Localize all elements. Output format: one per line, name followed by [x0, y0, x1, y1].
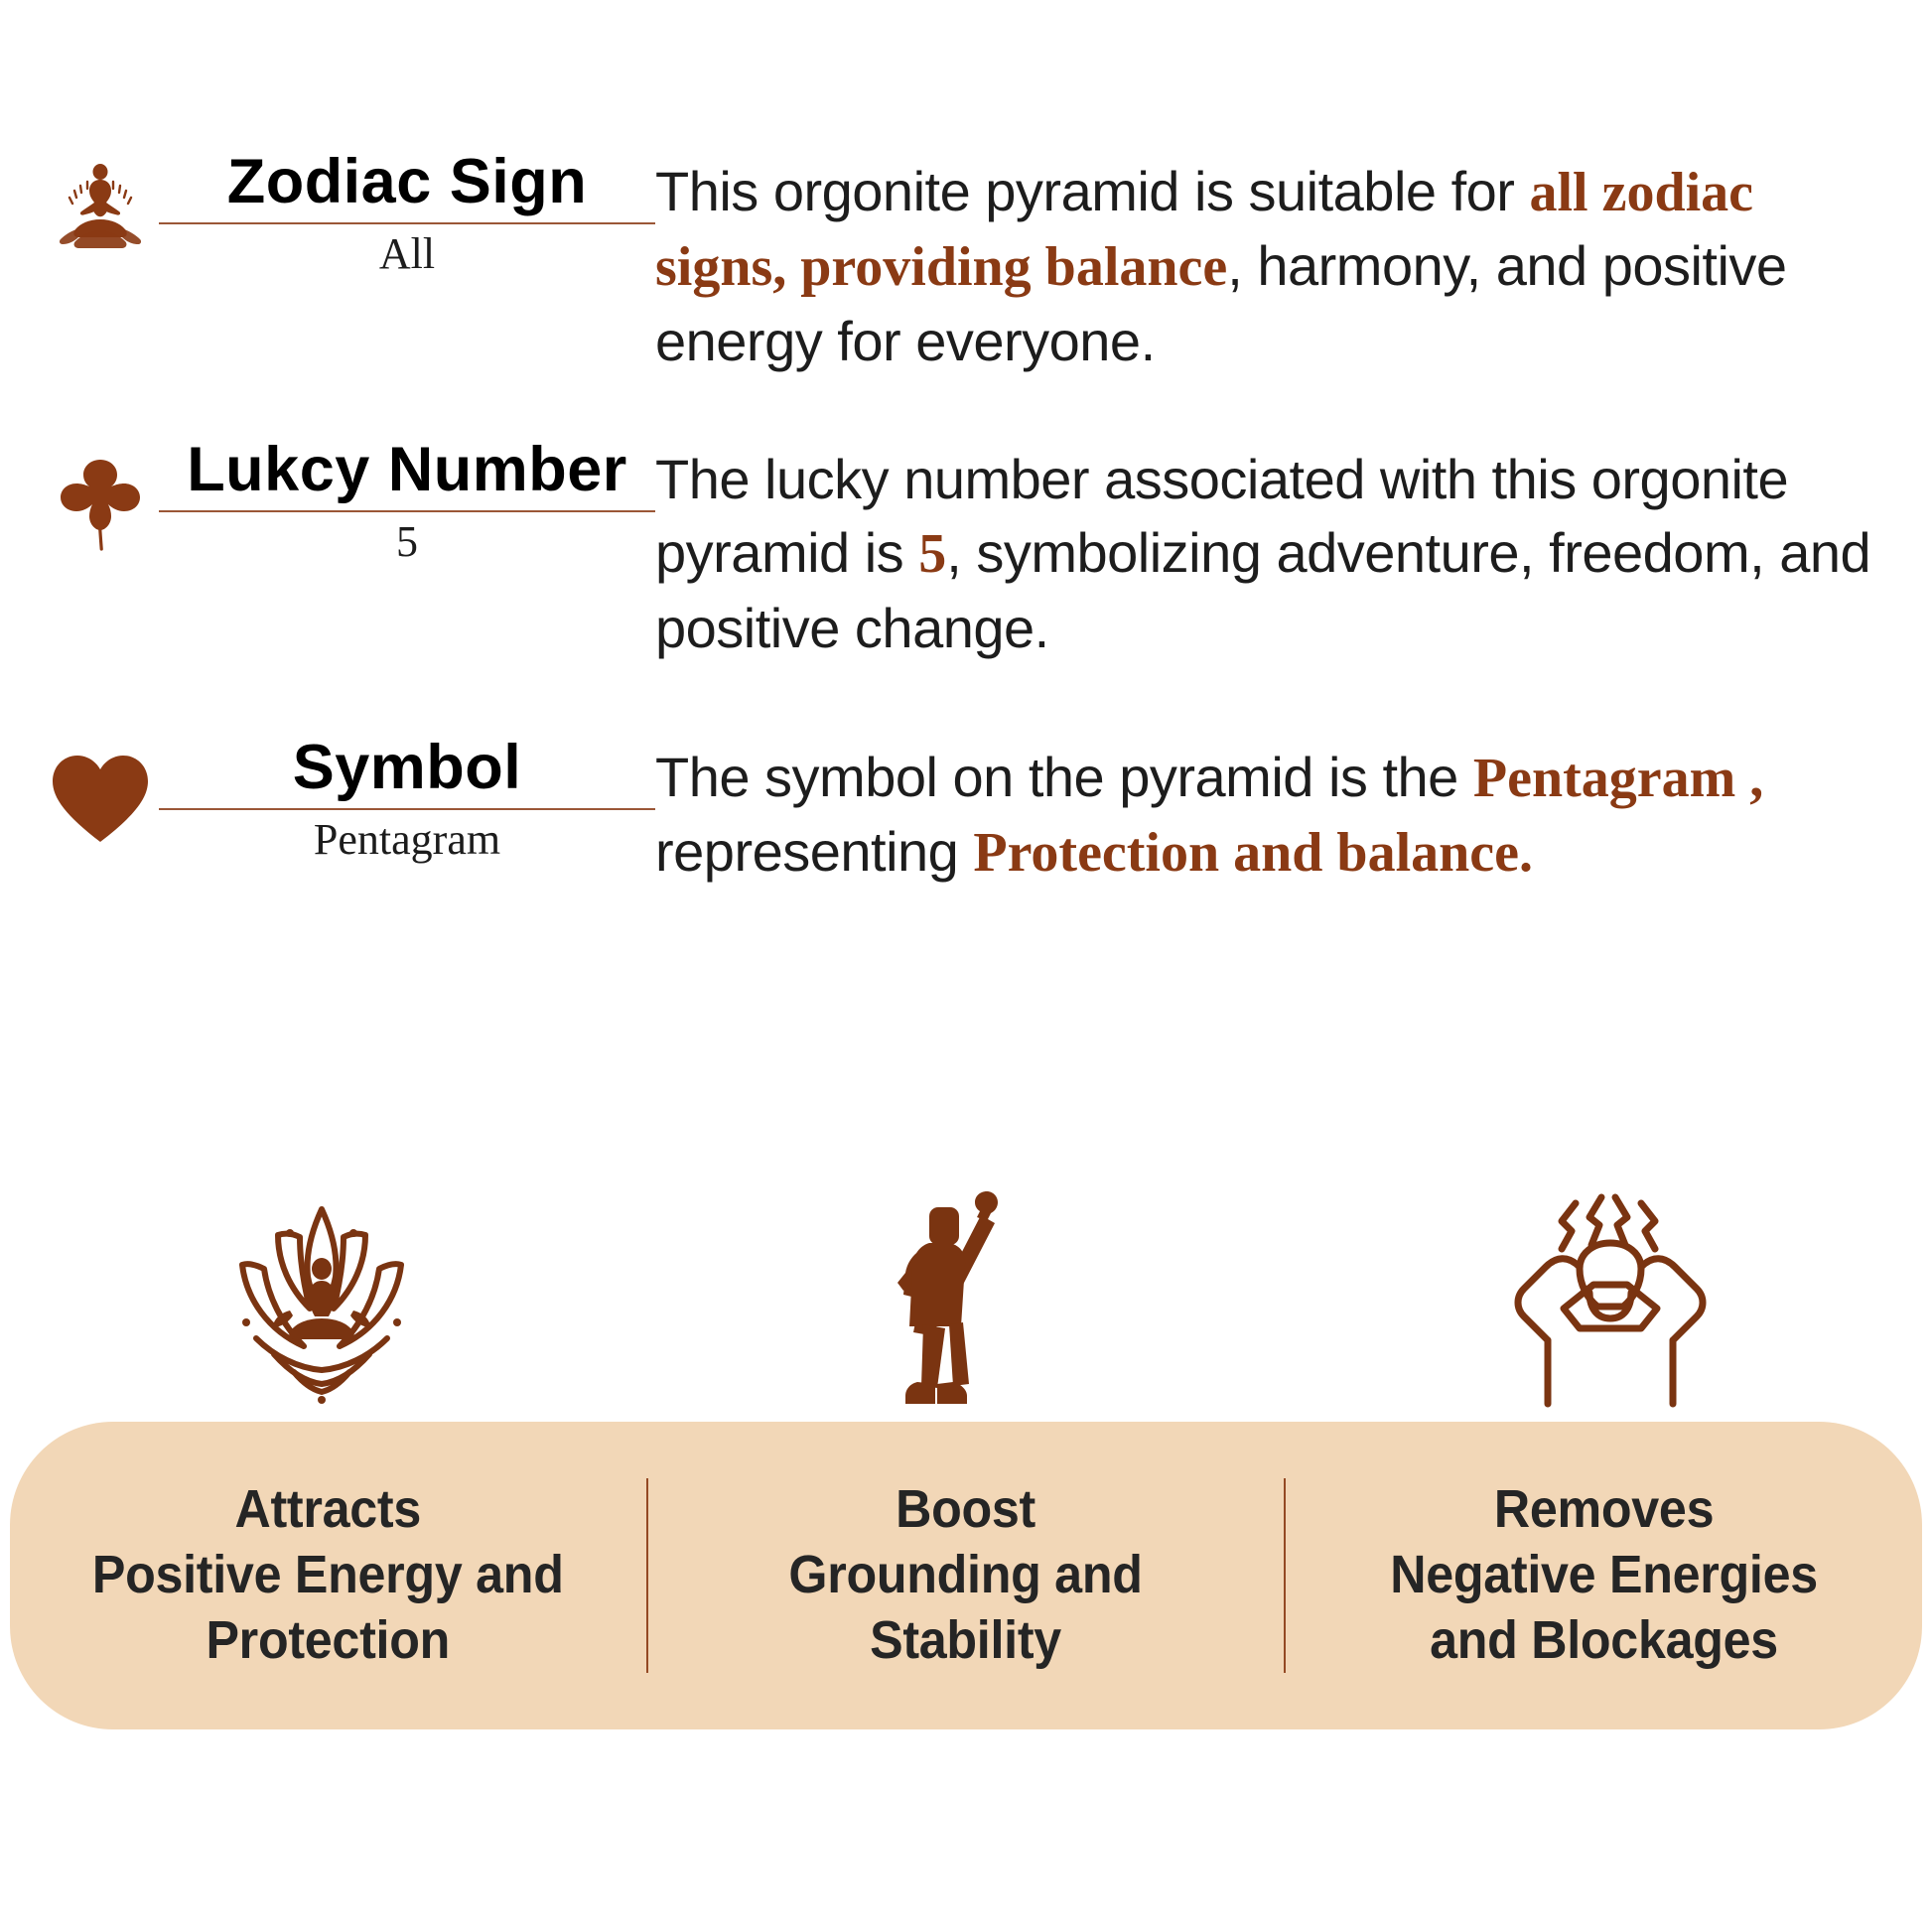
- benefit-text: Attracts Positive Energy and Protection: [92, 1477, 564, 1674]
- label-block: Zodiac Sign All: [159, 149, 655, 279]
- infographic-sheet: Zodiac Sign All This orgonite pyramid is…: [0, 0, 1932, 1932]
- banner-divider: [646, 1478, 648, 1673]
- row-description: This orgonite pyramid is suitable for al…: [655, 155, 1892, 378]
- benefit-column-attracts: Attracts Positive Energy and Protection: [10, 1422, 646, 1729]
- description-column: The symbol on the pyramid is the Pentagr…: [655, 735, 1932, 891]
- info-row-zodiac-sign: Zodiac Sign All This orgonite pyramid is…: [0, 149, 1932, 437]
- heart-icon: [42, 735, 159, 864]
- description-column: This orgonite pyramid is suitable for al…: [655, 149, 1932, 378]
- label-column: Symbol Pentagram: [0, 735, 655, 865]
- benefit-column-boost: Boost Grounding and Stability: [648, 1422, 1285, 1729]
- row-description: The symbol on the pyramid is the Pentagr…: [655, 741, 1892, 891]
- benefit-icon-cell: [0, 1127, 644, 1425]
- info-row-symbol: Symbol Pentagram The symbol on the pyram…: [0, 735, 1932, 1023]
- lotus-meditation-icon: [207, 1191, 437, 1417]
- clover-shamrock-icon: [42, 437, 159, 566]
- benefit-icons-row: [0, 1127, 1932, 1425]
- row-label: Zodiac Sign: [227, 149, 588, 214]
- raised-fist-person-icon: [892, 1185, 1040, 1417]
- benefit-line-2: Grounding and: [789, 1543, 1143, 1608]
- row-description: The lucky number associated with this or…: [655, 443, 1892, 665]
- info-rows: Zodiac Sign All This orgonite pyramid is…: [0, 149, 1932, 1023]
- banner-divider: [1284, 1478, 1286, 1673]
- benefit-column-removes: Removes Negative Energies and Blockages: [1286, 1422, 1922, 1729]
- benefit-line-2: Positive Energy and: [92, 1543, 564, 1608]
- benefit-line-1: Attracts: [92, 1477, 564, 1543]
- description-column: The lucky number associated with this or…: [655, 437, 1932, 665]
- label-divider: [159, 222, 655, 224]
- label-column: Zodiac Sign All: [0, 149, 655, 279]
- meditating-buddha-lotus-icon: [42, 149, 159, 278]
- benefit-icon-cell: [1288, 1127, 1932, 1425]
- row-value: Pentagram: [314, 816, 500, 864]
- benefit-text: Boost Grounding and Stability: [789, 1477, 1143, 1674]
- row-value: All: [379, 230, 435, 278]
- label-block: Lukcy Number 5: [159, 437, 655, 567]
- benefit-line-3: Protection: [92, 1608, 564, 1674]
- benefit-line-2: Negative Energies: [1390, 1543, 1818, 1608]
- benefit-line-3: Stability: [789, 1608, 1143, 1674]
- benefit-line-1: Boost: [789, 1477, 1143, 1543]
- benefit-line-3: and Blockages: [1390, 1608, 1818, 1674]
- headache-stress-relief-icon: [1506, 1187, 1715, 1417]
- label-column: Lukcy Number 5: [0, 437, 655, 567]
- row-label: Symbol: [293, 735, 522, 800]
- benefit-text: Removes Negative Energies and Blockages: [1390, 1477, 1818, 1674]
- info-row-lucky-number: Lukcy Number 5 The lucky number associat…: [0, 437, 1932, 735]
- row-value: 5: [396, 518, 418, 566]
- label-divider: [159, 808, 655, 810]
- row-label: Lukcy Number: [187, 437, 627, 502]
- label-block: Symbol Pentagram: [159, 735, 655, 865]
- benefit-line-1: Removes: [1390, 1477, 1818, 1543]
- benefits-banner: Attracts Positive Energy and Protection …: [10, 1422, 1922, 1729]
- benefit-icon-cell: [644, 1127, 1289, 1425]
- label-divider: [159, 510, 655, 512]
